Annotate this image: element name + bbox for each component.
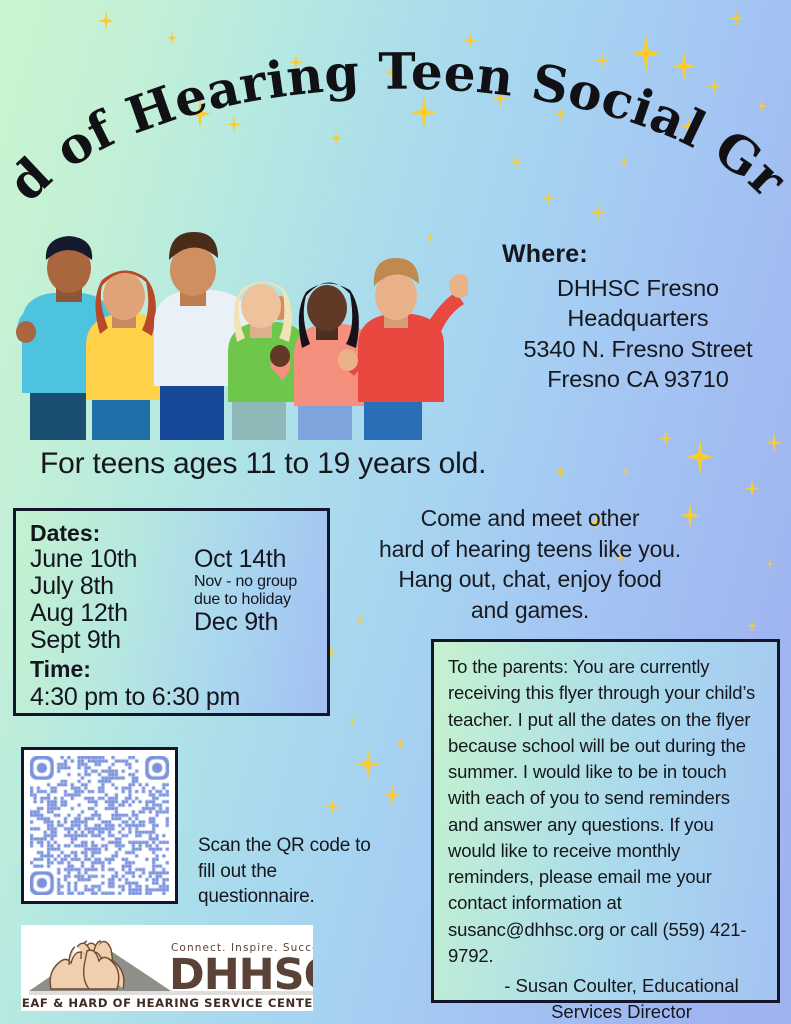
date-item: Aug 12th — [30, 600, 137, 627]
sparkle-icon — [348, 716, 357, 728]
meet-line-4: and games. — [340, 595, 720, 626]
date-item: July 8th — [30, 573, 137, 600]
where-line-3: 5340 N. Fresno Street — [492, 334, 784, 364]
parents-note-box: To the parents: You are currently receiv… — [431, 639, 780, 1003]
dates-column-left: June 10th July 8th Aug 12th Sept 9th — [30, 546, 137, 654]
meet-line-1: Come and meet other — [340, 503, 720, 534]
sparkle-icon — [356, 748, 380, 780]
sparkle-icon — [554, 464, 566, 480]
dates-box: Dates: June 10th July 8th Aug 12th Sept … — [13, 508, 330, 716]
meet-line-2: hard of hearing teens like you. — [340, 534, 720, 565]
sparkle-icon — [747, 619, 757, 633]
ages-line: For teens ages 11 to 19 years old. — [40, 447, 486, 481]
title-textpath: Hard of Hearing Teen Social Group — [0, 8, 791, 212]
where-label: Where: — [502, 240, 784, 269]
date-item: Sept 9th — [30, 627, 137, 654]
sparkle-icon — [383, 783, 401, 807]
sparkle-icon — [325, 797, 339, 816]
sparkle-icon — [660, 430, 673, 448]
qr-code-image — [30, 756, 169, 895]
logo-acronym: DHHSC — [169, 950, 313, 1000]
dates-column-right: Oct 14th Nov - no group due to holiday D… — [194, 546, 297, 636]
date-item: June 10th — [30, 546, 137, 573]
meet-line-3: Hang out, chat, enjoy food — [340, 564, 720, 595]
sparkle-icon — [766, 432, 782, 454]
sparkle-icon — [686, 438, 714, 476]
meet-block: Come and meet other hard of hearing teen… — [340, 503, 720, 625]
teens-illustration — [8, 228, 468, 440]
sparkle-icon — [766, 558, 775, 570]
flyer-canvas: Hard of Hearing Teen Social Group — [0, 0, 791, 1024]
logo-full-name: DEAF & HARD OF HEARING SERVICE CENTER — [21, 996, 313, 1010]
date-note: due to holiday — [194, 591, 297, 609]
title-text: Hard of Hearing Teen Social Group — [0, 8, 791, 212]
time-value: 4:30 pm to 6:30 pm — [30, 683, 240, 712]
dates-heading: Dates: — [30, 520, 100, 547]
date-item: Dec 9th — [194, 609, 297, 636]
flyer-title: Hard of Hearing Teen Social Group — [0, 8, 791, 223]
where-line-4: Fresno CA 93710 — [492, 364, 784, 394]
qr-code[interactable] — [21, 747, 178, 904]
dhhsc-logo: Connect. Inspire. Succeed. DHHSC DEAF & … — [21, 925, 313, 1011]
qr-caption: Scan the QR code to fill out the questio… — [198, 833, 388, 910]
sparkle-icon — [745, 479, 759, 498]
date-item: Oct 14th — [194, 546, 297, 573]
parents-note-signature: - Susan Coulter, Educational Services Di… — [448, 973, 763, 1024]
time-heading: Time: — [30, 656, 91, 683]
where-line-2: Headquarters — [492, 303, 784, 333]
date-note: Nov - no group — [194, 573, 297, 591]
sparkle-icon — [622, 466, 631, 478]
sparkle-icon — [395, 737, 406, 752]
where-block: Where: DHHSC Fresno Headquarters 5340 N.… — [492, 240, 784, 394]
where-line-1: DHHSC Fresno — [492, 273, 784, 303]
parents-note-body: To the parents: You are currently receiv… — [448, 654, 763, 969]
